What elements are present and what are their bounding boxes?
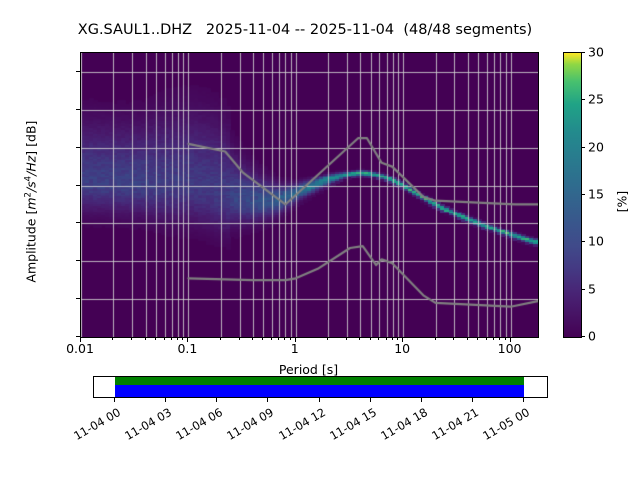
- x-tick-mark-minor: [155, 337, 156, 340]
- colorbar-tick-label: 25: [588, 92, 604, 107]
- y-tick-mark: [76, 298, 80, 299]
- coverage-tick-label: 11-04 18: [374, 405, 429, 445]
- x-tick-label: 10: [394, 341, 410, 356]
- coverage-tick-mark: [523, 398, 524, 402]
- x-tick-mark-minor: [397, 337, 398, 340]
- x-tick-mark-minor: [493, 337, 494, 340]
- coverage-tick-mark: [165, 398, 166, 402]
- x-tick-mark-minor: [164, 337, 165, 340]
- x-tick-mark-major: [80, 337, 81, 342]
- coverage-tick-label: 11-04 09: [221, 405, 276, 445]
- x-tick-label: 1: [291, 341, 299, 356]
- coverage-tick-mark: [472, 398, 473, 402]
- ppsd-plot-area[interactable]: [80, 52, 539, 338]
- colorbar-tick-label: 20: [588, 139, 604, 154]
- x-tick-mark-major: [510, 337, 511, 342]
- x-tick-mark-major: [295, 337, 296, 342]
- x-tick-mark-minor: [262, 337, 263, 340]
- coverage-tick-label: 11-04 03: [119, 405, 174, 445]
- time-coverage-bar[interactable]: [93, 376, 548, 398]
- coverage-tick-label: 11-05 00: [477, 405, 532, 445]
- x-tick-label: 0.01: [66, 341, 94, 356]
- x-tick-mark-minor: [171, 337, 172, 340]
- ppsd-figure: XG.SAUL1..DHZ 2025-11-04 -- 2025-11-04 (…: [0, 0, 640, 480]
- colorbar-tick-mark: [581, 336, 585, 337]
- coverage-segment-blue: [115, 385, 524, 397]
- x-tick-mark-minor: [499, 337, 500, 340]
- colorbar-tick-label: 10: [588, 234, 604, 249]
- y-tick-mark: [76, 147, 80, 148]
- coverage-tick-label: 11-04 15: [323, 405, 378, 445]
- y-tick-mark: [76, 109, 80, 110]
- colorbar-tick-mark: [581, 147, 585, 148]
- x-tick-mark-minor: [271, 337, 272, 340]
- colorbar-label: [%]: [615, 162, 630, 242]
- y-tick-mark: [76, 222, 80, 223]
- y-tick-mark: [76, 185, 80, 186]
- colorbar[interactable]: [563, 52, 582, 338]
- plot-title: XG.SAUL1..DHZ 2025-11-04 -- 2025-11-04 (…: [0, 22, 610, 38]
- x-tick-mark-minor: [453, 337, 454, 340]
- x-tick-mark-minor: [112, 337, 113, 340]
- x-tick-mark-major: [187, 337, 188, 342]
- x-tick-label: 100: [498, 341, 522, 356]
- x-tick-mark-minor: [435, 337, 436, 340]
- colorbar-tick-mark: [581, 99, 585, 100]
- x-tick-mark-minor: [284, 337, 285, 340]
- y-axis-label: Amplitude [m2/s4/Hz] [dB]: [23, 62, 38, 342]
- coverage-tick-label: 11-04 00: [68, 405, 123, 445]
- coverage-segment-green: [115, 377, 524, 385]
- coverage-tick-mark: [267, 398, 268, 402]
- y-tick-mark: [76, 71, 80, 72]
- x-tick-mark-major: [402, 337, 403, 342]
- colorbar-tick-label: 30: [588, 45, 604, 60]
- coverage-tick-mark: [421, 398, 422, 402]
- colorbar-tick-mark: [581, 289, 585, 290]
- colorbar-tick-mark: [581, 194, 585, 195]
- colorbar-tick-label: 15: [588, 187, 604, 202]
- x-tick-mark-minor: [177, 337, 178, 340]
- coverage-tick-mark: [370, 398, 371, 402]
- x-tick-mark-minor: [327, 337, 328, 340]
- x-tick-mark-minor: [477, 337, 478, 340]
- colorbar-tick-label: 0: [588, 329, 596, 344]
- coverage-tick-mark: [216, 398, 217, 402]
- coverage-tick-label: 11-04 21: [425, 405, 480, 445]
- x-tick-mark-minor: [370, 337, 371, 340]
- x-tick-mark-minor: [505, 337, 506, 340]
- x-tick-mark-minor: [486, 337, 487, 340]
- x-tick-mark-minor: [182, 337, 183, 340]
- x-tick-mark-minor: [346, 337, 347, 340]
- x-tick-mark-minor: [145, 337, 146, 340]
- y-tick-mark: [76, 260, 80, 261]
- ppsd-canvas-wrapper: [81, 53, 538, 337]
- coverage-tick-label: 11-04 06: [170, 405, 225, 445]
- colorbar-tick-mark: [581, 241, 585, 242]
- x-tick-mark-minor: [392, 337, 393, 340]
- x-tick-mark-minor: [239, 337, 240, 340]
- x-axis-label: Period [s]: [80, 362, 537, 377]
- coverage-tick-label: 11-04 12: [272, 405, 327, 445]
- x-tick-mark-minor: [278, 337, 279, 340]
- y-axis-label-text: Amplitude [m2/s4/Hz] [dB]: [24, 121, 39, 283]
- colorbar-tick-label: 5: [588, 281, 596, 296]
- x-tick-mark-minor: [467, 337, 468, 340]
- ppsd-density-canvas: [81, 53, 538, 337]
- coverage-tick-mark: [319, 398, 320, 402]
- x-tick-mark-minor: [359, 337, 360, 340]
- x-tick-mark-minor: [378, 337, 379, 340]
- x-tick-mark-minor: [220, 337, 221, 340]
- colorbar-tick-mark: [581, 52, 585, 53]
- x-tick-mark-minor: [386, 337, 387, 340]
- x-tick-mark-minor: [252, 337, 253, 340]
- x-tick-mark-minor: [290, 337, 291, 340]
- x-tick-label: 0.1: [177, 341, 197, 356]
- x-tick-mark-minor: [131, 337, 132, 340]
- coverage-tick-mark: [114, 398, 115, 402]
